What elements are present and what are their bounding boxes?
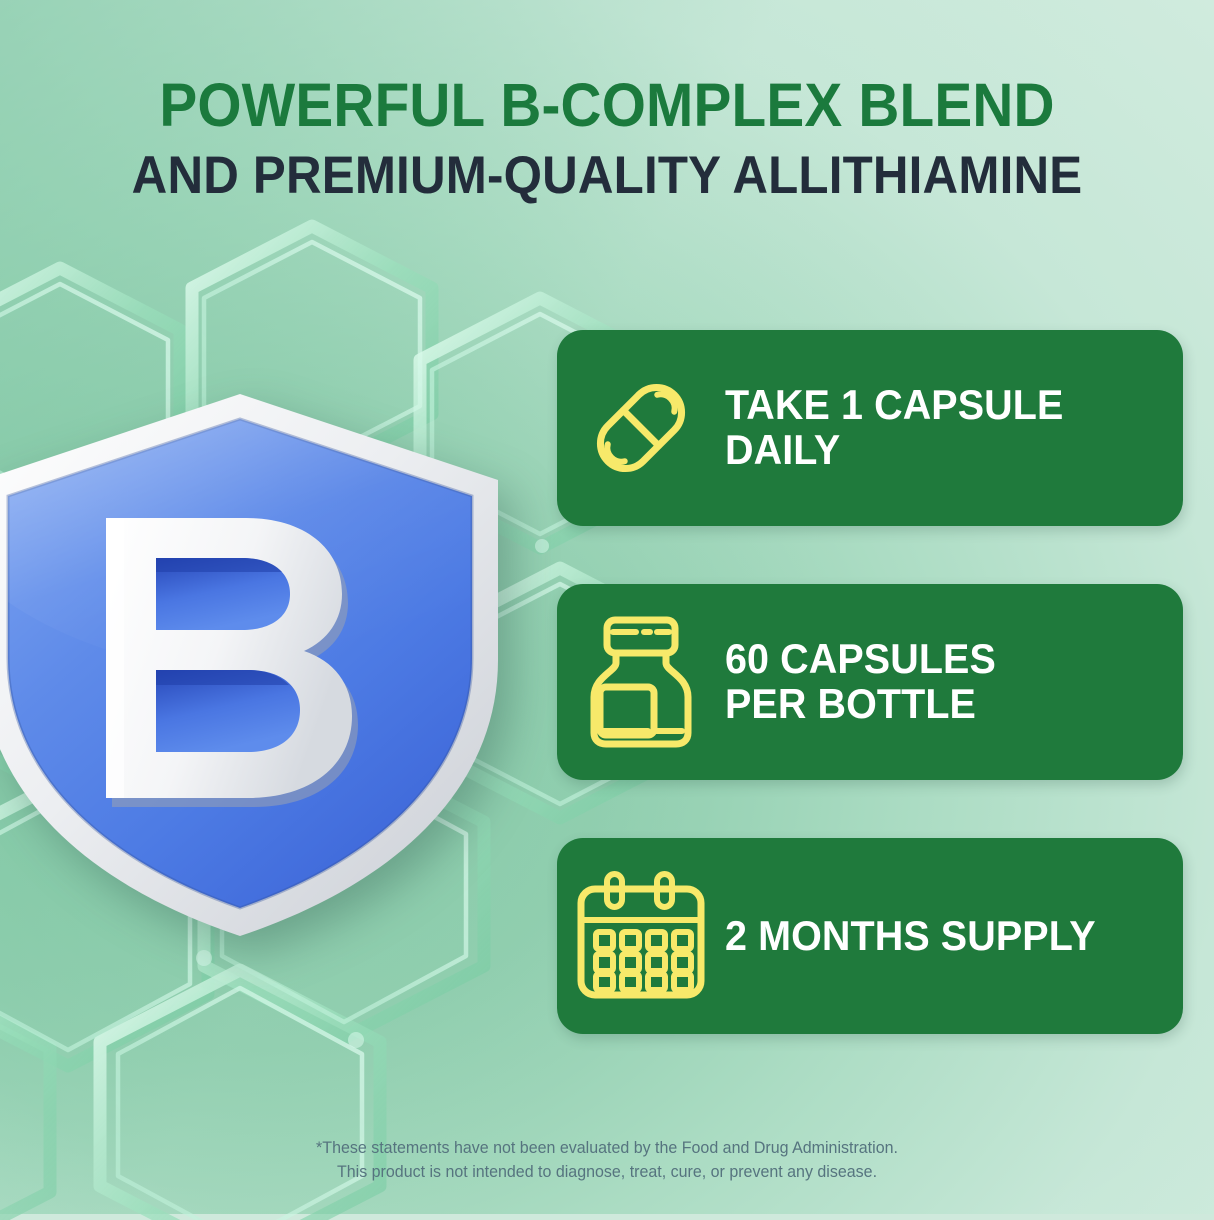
feature-card-count-text: 60 CAPSULES PER BOTTLE xyxy=(725,637,1013,727)
feature-card-count[interactable]: 60 CAPSULES PER BOTTLE xyxy=(557,584,1183,780)
calendar-icon xyxy=(557,838,725,1034)
feature-card-dosage[interactable]: TAKE 1 CAPSULE DAILY xyxy=(557,330,1183,526)
shield-badge xyxy=(0,392,520,937)
page-title: POWERFUL B-COMPLEX BLEND xyxy=(42,74,1171,136)
capsule-icon xyxy=(557,330,725,526)
feature-card-count-line2: PER BOTTLE xyxy=(725,682,996,727)
disclaimer: *These statements have not been evaluate… xyxy=(18,1137,1196,1185)
feature-card-supply-text: 2 MONTHS SUPPLY xyxy=(725,914,1113,959)
disclaimer-line2: This product is not intended to diagnose… xyxy=(18,1161,1196,1185)
feature-card-count-line1: 60 CAPSULES xyxy=(725,637,996,682)
disclaimer-line1: *These statements have not been evaluate… xyxy=(18,1137,1196,1161)
feature-card-dosage-line2: DAILY xyxy=(725,428,1063,473)
page-subtitle: AND PREMIUM-QUALITY ALLITHIAMINE xyxy=(42,149,1171,203)
feature-card-supply[interactable]: 2 MONTHS SUPPLY xyxy=(557,838,1183,1034)
feature-card-dosage-line1: TAKE 1 CAPSULE xyxy=(725,383,1063,428)
headline-block: POWERFUL B-COMPLEX BLEND AND PREMIUM-QUA… xyxy=(0,74,1214,203)
feature-card-supply-line1: 2 MONTHS SUPPLY xyxy=(725,914,1096,959)
feature-card-dosage-text: TAKE 1 CAPSULE DAILY xyxy=(725,383,1080,473)
supplement-bottle-icon xyxy=(557,584,725,780)
feature-card-list: TAKE 1 CAPSULE DAILY 60 CAPSULES xyxy=(557,330,1185,1034)
